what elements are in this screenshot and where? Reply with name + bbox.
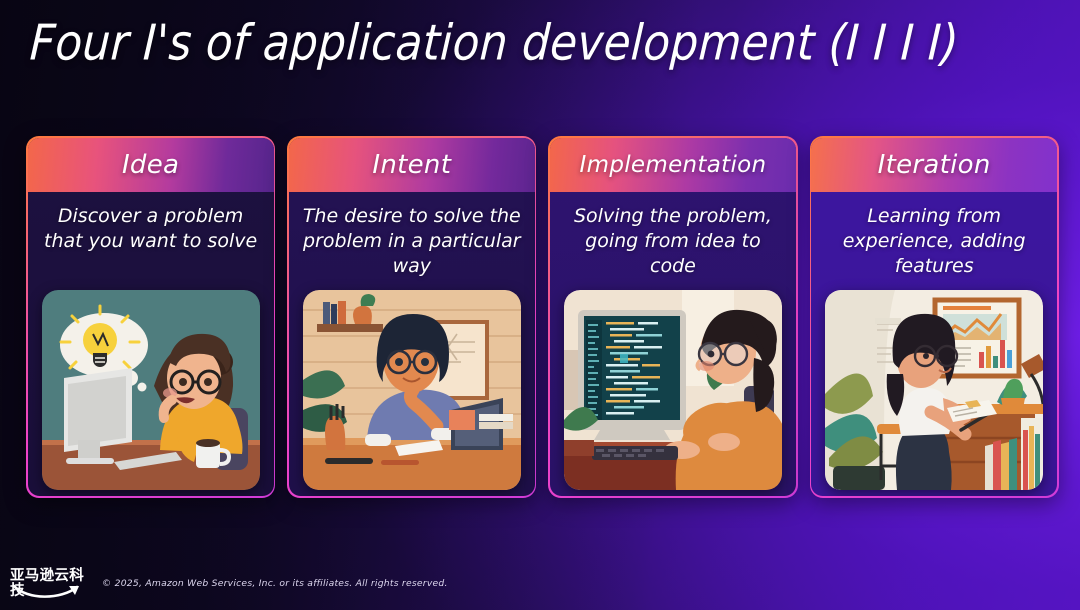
card-idea[interactable]: Idea Discover a problem that you want to… [26, 136, 275, 498]
card-title-implementation: Implementation [550, 138, 796, 192]
illustration-reflection-iteration [825, 490, 1043, 497]
card-description-intent: The desire to solve the problem in a par… [289, 192, 535, 288]
copyright-text: © 2025, Amazon Web Services, Inc. or its… [102, 578, 448, 589]
card-implementation[interactable]: Implementation Solving the problem, goin… [548, 136, 797, 498]
amazon-smile-arrow-icon [13, 584, 87, 600]
illustration-reflection-idea [42, 490, 260, 497]
illustration-reflection-intent [303, 490, 521, 497]
illustration-implementation [564, 290, 782, 490]
cards-row: Idea Discover a problem that you want to… [26, 136, 1056, 498]
card-title-iteration: Iteration [811, 138, 1057, 192]
aws-china-logo: 亚马逊云科技 [10, 566, 90, 600]
slide-canvas: Four I's of application development (I I… [0, 0, 1080, 610]
card-description-idea: Discover a problem that you want to solv… [28, 192, 274, 288]
card-title-idea: Idea [28, 138, 274, 192]
illustration-reflection-implementation [564, 490, 782, 497]
card-iteration[interactable]: Iteration Learning from experience, addi… [810, 136, 1059, 498]
illustration-iteration [825, 290, 1043, 490]
card-description-implementation: Solving the problem, going from idea to … [550, 192, 796, 288]
card-intent[interactable]: Intent The desire to solve the problem i… [287, 136, 536, 498]
illustration-intent [303, 290, 521, 490]
card-title-intent: Intent [289, 138, 535, 192]
footer: 亚马逊云科技 © 2025, Amazon Web Services, Inc.… [0, 556, 1080, 610]
illustration-idea [42, 290, 260, 490]
card-description-iteration: Learning from experience, adding feature… [811, 192, 1057, 288]
page-title: Four I's of application development (I I… [29, 15, 961, 72]
